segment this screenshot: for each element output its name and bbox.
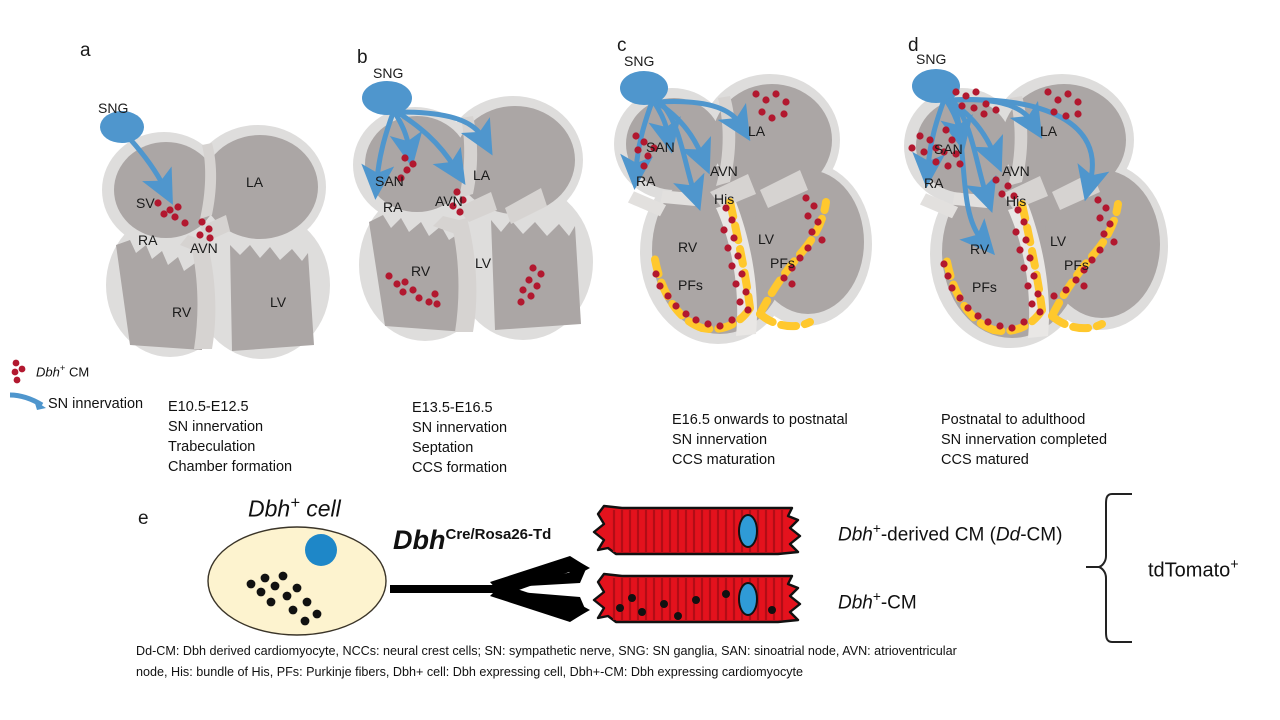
cell-membrane — [208, 527, 386, 635]
heart-label-san: SAN — [375, 173, 404, 189]
panel-d-diagram: SAN RA AVN LA His RV LV PFs PFs SNG — [900, 52, 1190, 357]
panel-a-caption: E10.5-E12.5 SN innervation Trabeculation… — [168, 397, 368, 477]
heart-label-pfs-lv: PFs — [1064, 257, 1089, 273]
heart-label-pfs-rv: PFs — [972, 279, 997, 295]
panel-c-diagram: SAN RA AVN LA His RV LV PFs PFs SNG — [610, 52, 895, 357]
heart-label-la: LA — [246, 174, 264, 190]
tdtomato-text: tdTomato — [1148, 560, 1230, 582]
legend-dbh-sup: + — [60, 363, 65, 373]
dd-cm-sup: + — [873, 521, 881, 536]
heart-label-rv: RV — [411, 263, 431, 279]
cm-nucleus-icon — [739, 515, 757, 547]
sng-label-c: SNG — [624, 53, 654, 69]
tdtomato-label: tdTomato+ — [1148, 557, 1239, 583]
heart-label-rv: RV — [172, 304, 192, 320]
heart-label-rv: RV — [678, 239, 698, 255]
sng-label-a: SNG — [98, 100, 128, 116]
dbh-cre-rosa-label: DbhCre/Rosa26-Td — [393, 525, 551, 556]
cm-nucleus-icon — [739, 583, 757, 615]
sng-label-b: SNG — [373, 65, 403, 81]
panel-c-caption: E16.5 onwards to postnatal SN innervatio… — [672, 410, 922, 470]
figure-canvas: a b c d — [0, 0, 1280, 720]
dbh-cre-gene: Dbh — [393, 525, 445, 555]
dbh-cell-title-rest: cell — [300, 496, 341, 522]
heart-label-la: LA — [748, 123, 766, 139]
dbh-cm-sup: + — [873, 589, 881, 604]
dbh-cm-rest: -CM — [881, 592, 917, 613]
heart-label-san: SAN — [934, 141, 963, 157]
legend-sn-innervation-label: SN innervation — [48, 396, 143, 412]
heart-label-san: SAN — [646, 139, 675, 155]
tdtomato-sup: + — [1230, 557, 1238, 573]
dd-cm-tail: -CM) — [1020, 524, 1062, 545]
legend-dbh-dots-label: Dbh+ CM — [36, 363, 89, 379]
cardiomyocyte-dbh-cm — [592, 570, 808, 628]
heart-label-rv: RV — [970, 241, 990, 257]
panel-letter-e: e — [138, 508, 149, 530]
dbh-cell-title: Dbh+ cell — [248, 493, 341, 523]
panel-b-diagram: SAN RA AVN LA RV LV SNG — [345, 60, 620, 360]
footnote-line-2: node, His: bundle of His, PFs: Purkinje … — [136, 662, 1126, 683]
lineage-split-arrow — [390, 560, 610, 630]
heart-label-avn: AVN — [190, 240, 218, 256]
panel-a-diagram: SV RA AVN LA RV LV SNG — [80, 95, 340, 375]
dbh-cell-diagram — [205, 522, 390, 640]
cell-nucleus-icon — [305, 534, 337, 566]
dbh-cell-title-gene: Dbh — [248, 496, 290, 522]
heart-label-lv: LV — [475, 255, 492, 271]
dbh-cm-label: Dbh+-CM — [838, 589, 917, 614]
dd-cm-gene: Dbh — [838, 524, 873, 545]
dd-cm-label: Dbh+-derived CM (Dd-CM) — [838, 521, 1062, 546]
heart-label-avn: AVN — [710, 163, 738, 179]
heart-label-lv: LV — [1050, 233, 1067, 249]
legend-sn-arrow — [8, 392, 50, 414]
legend-dbh-italic: Dbh — [36, 364, 60, 379]
legend-dbh-rest: CM — [69, 364, 89, 379]
heart-label-his: His — [1006, 193, 1026, 209]
dbh-cre-sup: Cre/Rosa26-Td — [445, 526, 551, 543]
heart-label-ra: RA — [138, 232, 158, 248]
tdtomato-bracket — [1098, 492, 1142, 644]
dbh-dot-icon — [6, 358, 32, 384]
dd-cm-mid: -derived CM ( — [881, 524, 996, 545]
dbh-cm-gene: Dbh — [838, 592, 873, 613]
dbh-cell-title-sup: + — [290, 493, 300, 512]
sng-label-d: SNG — [916, 51, 946, 67]
heart-label-lv: LV — [270, 294, 287, 310]
panel-letter-a: a — [80, 40, 91, 62]
legend-dbh-dots — [6, 358, 32, 384]
heart-label-ra: RA — [636, 173, 656, 189]
heart-label-la: LA — [473, 167, 491, 183]
sn-innervation-arrow-icon — [8, 392, 50, 414]
panel-b-caption: E13.5-E16.5 SN innervation Septation CCS… — [412, 398, 622, 478]
heart-label-la: LA — [1040, 123, 1058, 139]
footnote-line-1: Dd-CM: Dbh derived cardiomyocyte, NCCs: … — [136, 641, 1126, 662]
dd-cm-abbrev: Dd — [996, 524, 1020, 545]
heart-label-sv: SV — [136, 195, 155, 211]
heart-label-avn: AVN — [435, 193, 463, 209]
heart-label-ra: RA — [383, 199, 403, 215]
panel-d-caption: Postnatal to adulthood SN innervation co… — [941, 410, 1201, 470]
cardiomyocyte-dd-cm — [592, 502, 808, 560]
heart-label-pfs-lv: PFs — [770, 255, 795, 271]
heart-label-avn: AVN — [1002, 163, 1030, 179]
heart-label-ra: RA — [924, 175, 944, 191]
heart-label-his: His — [714, 191, 734, 207]
heart-label-lv: LV — [758, 231, 775, 247]
heart-label-pfs-rv: PFs — [678, 277, 703, 293]
